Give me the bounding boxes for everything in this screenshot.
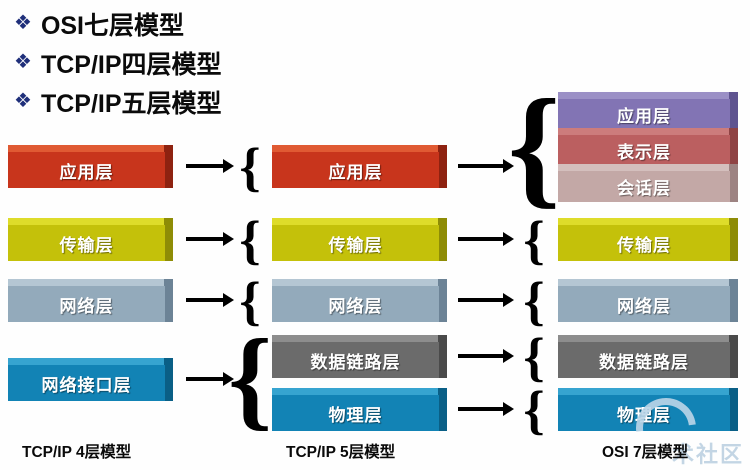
box-face: 网络层 [8, 286, 165, 322]
layer-label: 传输层 [329, 231, 383, 256]
box-side-bevel [729, 128, 738, 166]
box-side-bevel [729, 335, 738, 378]
arrow-middle-network [458, 293, 516, 307]
layer-label: 应用层 [60, 158, 114, 183]
arrow-shaft [186, 377, 224, 381]
layer-label: 传输层 [60, 231, 114, 256]
header-bullet-osi: ❖ OSI七层模型 [14, 6, 184, 42]
arrow-shaft [458, 298, 504, 302]
box-side-bevel [438, 388, 447, 431]
arrow-shaft [458, 164, 504, 168]
layer-box-tcpip5-network: 网络层 [272, 279, 447, 322]
box-face: 传输层 [272, 225, 439, 261]
box-face: 物理层 [272, 395, 439, 431]
box-side-bevel [164, 145, 173, 188]
box-face: 传输层 [558, 225, 730, 261]
header-bullet-tcpip5: ❖ TCP/IP五层模型 [14, 84, 222, 120]
diamond-bullet-icon: ❖ [14, 52, 32, 72]
arrow-head [223, 232, 234, 246]
brace-left-network: { [239, 280, 261, 322]
layer-label: 应用层 [329, 158, 383, 183]
header-bullet-label: OSI七层模型 [41, 6, 184, 42]
box-side-bevel [729, 92, 738, 130]
arrow-middle-physical [458, 402, 516, 416]
caption-tcpip5: TCP/IP 5层模型 [286, 440, 395, 462]
arrow-left-network [186, 293, 234, 307]
layer-box-tcpip5-physical: 物理层 [272, 388, 447, 431]
layer-box-osi-network: 网络层 [558, 279, 738, 322]
arrow-head [223, 293, 234, 307]
brace-glyph: { [508, 92, 561, 202]
box-side-bevel [729, 279, 738, 322]
box-side-bevel [729, 218, 738, 261]
layer-label: 网络层 [617, 292, 671, 317]
box-face: 传输层 [8, 225, 165, 261]
layer-box-tcpip4-application: 应用层 [8, 145, 173, 188]
layer-box-tcpip4-transport: 传输层 [8, 218, 173, 261]
layer-box-tcpip5-datalink: 数据链路层 [272, 335, 447, 378]
layer-label: 会话层 [617, 174, 671, 199]
arrow-head [223, 159, 234, 173]
arrow-left-application [186, 159, 234, 173]
caption-osi7: OSI 7层模型 [602, 440, 688, 462]
brace-middle-physical: { [522, 389, 546, 431]
brace-glyph: { [239, 218, 260, 262]
layer-label: 表示层 [617, 138, 671, 163]
box-side-bevel [438, 145, 447, 188]
brace-middle-datalink: { [522, 336, 546, 378]
arrow-shaft [186, 298, 224, 302]
box-side-bevel [164, 279, 173, 322]
box-face: 物理层 [558, 395, 730, 431]
layer-label: 网络层 [329, 292, 383, 317]
layer-box-tcpip5-application: 应用层 [272, 145, 447, 188]
box-side-bevel [164, 358, 173, 401]
layer-box-osi-application: 应用层 [558, 92, 738, 130]
layer-box-tcpip4-network: 网络层 [8, 279, 173, 322]
box-side-bevel [729, 164, 738, 202]
brace-middle-network: { [522, 280, 546, 322]
arrow-head [503, 349, 514, 363]
box-face: 应用层 [272, 152, 439, 188]
diamond-bullet-icon: ❖ [14, 13, 32, 33]
layer-box-tcpip5-transport: 传输层 [272, 218, 447, 261]
layer-box-osi-physical: 物理层 [558, 388, 738, 431]
layer-box-osi-session: 会话层 [558, 164, 738, 202]
arrow-head [503, 402, 514, 416]
brace-middle-transport: { [522, 219, 546, 261]
box-face: 网络接口层 [8, 365, 165, 401]
diamond-bullet-icon: ❖ [14, 91, 32, 111]
arrow-head [503, 293, 514, 307]
layer-box-osi-datalink: 数据链路层 [558, 335, 738, 378]
arrow-shaft [458, 354, 504, 358]
box-side-bevel [438, 279, 447, 322]
brace-glyph: { [523, 335, 544, 379]
box-side-bevel [438, 335, 447, 378]
layer-label: 物理层 [617, 401, 671, 426]
box-face: 会话层 [558, 171, 730, 202]
header-bullet-tcpip4: ❖ TCP/IP四层模型 [14, 45, 222, 81]
brace-glyph: { [228, 334, 272, 426]
layer-box-tcpip4-network-interface: 网络接口层 [8, 358, 173, 401]
layer-label: 网络层 [60, 292, 114, 317]
box-face: 数据链路层 [272, 342, 439, 378]
box-side-bevel [438, 218, 447, 261]
brace-glyph: { [523, 218, 544, 262]
header-bullet-label: TCP/IP四层模型 [41, 45, 222, 81]
brace-left-transport: { [239, 219, 261, 261]
box-face: 数据链路层 [558, 342, 730, 378]
layer-label: 物理层 [329, 401, 383, 426]
box-face: 网络层 [272, 286, 439, 322]
box-side-bevel [164, 218, 173, 261]
brace-left-network-interface: { [239, 335, 261, 425]
arrow-shaft [458, 407, 504, 411]
arrow-left-network-interface [186, 372, 234, 386]
brace-glyph: { [523, 388, 544, 432]
layer-box-osi-presentation: 表示层 [558, 128, 738, 166]
box-face: 网络层 [558, 286, 730, 322]
box-face: 表示层 [558, 135, 730, 166]
arrow-shaft [458, 237, 504, 241]
arrow-left-transport [186, 232, 234, 246]
box-face: 应用层 [8, 152, 165, 188]
layer-label: 应用层 [617, 102, 671, 127]
arrow-middle-transport [458, 232, 516, 246]
box-side-bevel [729, 388, 738, 431]
arrow-head [503, 232, 514, 246]
layer-label: 数据链路层 [311, 348, 401, 373]
arrow-shaft [186, 164, 224, 168]
header-bullet-label: TCP/IP五层模型 [41, 84, 222, 120]
layer-label: 网络接口层 [42, 371, 132, 396]
caption-tcpip4: TCP/IP 4层模型 [22, 440, 131, 462]
brace-glyph: { [239, 145, 260, 189]
box-face: 应用层 [558, 99, 730, 130]
diagram-canvas: ❖ OSI七层模型 ❖ TCP/IP四层模型 ❖ TCP/IP五层模型 应用层 … [0, 0, 750, 470]
layer-label: 传输层 [617, 231, 671, 256]
layer-label: 数据链路层 [599, 348, 689, 373]
arrow-middle-datalink [458, 349, 516, 363]
brace-glyph: { [523, 279, 544, 323]
layer-box-osi-transport: 传输层 [558, 218, 738, 261]
brace-middle-application: { [522, 93, 546, 201]
brace-left-application: { [239, 146, 261, 188]
arrow-shaft [186, 237, 224, 241]
